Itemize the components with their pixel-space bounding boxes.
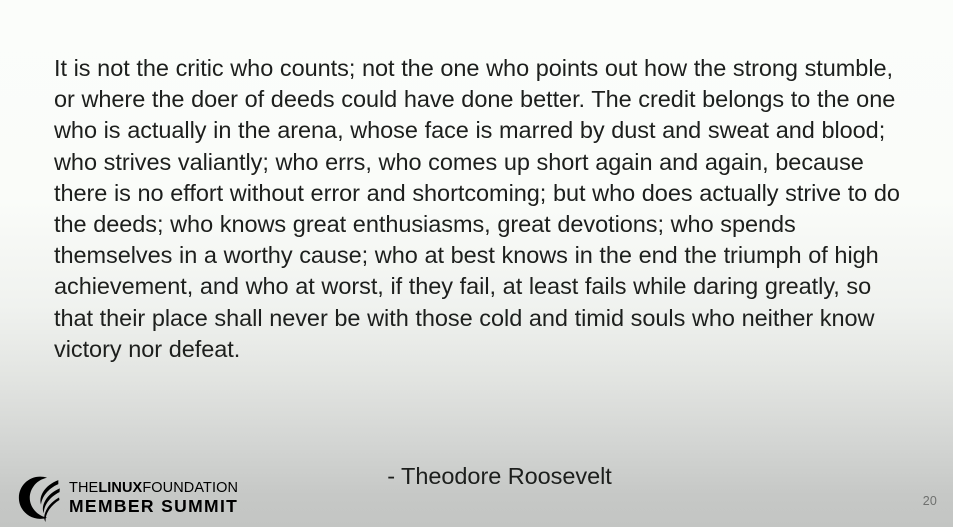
linux-foundation-swirl-icon xyxy=(13,473,62,522)
logo-line-linux-foundation: THELINUXFOUNDATION xyxy=(69,480,238,496)
quote-text: It is not the critic who counts; not the… xyxy=(54,53,900,365)
logo-wordmark: THELINUXFOUNDATION MEMBER SUMMIT xyxy=(69,479,238,516)
page-number: 20 xyxy=(923,494,937,508)
logo-line-member-summit: MEMBER SUMMIT xyxy=(69,497,238,516)
linux-foundation-member-summit-logo: THELINUXFOUNDATION MEMBER SUMMIT xyxy=(13,473,238,522)
logo-word-linux: LINUX xyxy=(98,480,142,496)
slide: It is not the critic who counts; not the… xyxy=(0,0,953,527)
logo-word-the: THE xyxy=(69,480,98,496)
logo-word-foundation: FOUNDATION xyxy=(142,480,238,496)
